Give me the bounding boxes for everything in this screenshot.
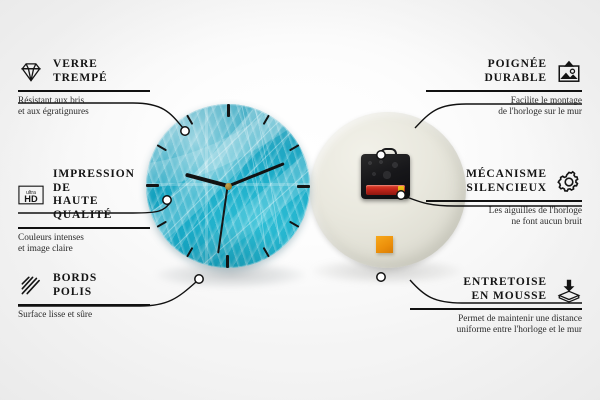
foam-spacer xyxy=(376,236,393,253)
callout-verre-trempe[interactable]: VERRE TREMPÉ Résistant aux bris et aux é… xyxy=(18,58,150,119)
callout-bords-polis[interactable]: BORDS POLIS Surface lisse et sûre xyxy=(18,272,150,321)
picture-hanger-icon xyxy=(556,59,582,85)
callout-rule xyxy=(18,227,150,229)
callout-desc: Surface lisse et sûre xyxy=(18,310,150,322)
callout-title: IMPRESSION DE HAUTE QUALITÉ xyxy=(53,168,150,222)
ultra-hd-badge-icon: ultra HD xyxy=(18,182,44,208)
polished-edges-icon xyxy=(18,273,44,299)
callout-title: BORDS POLIS xyxy=(53,272,97,299)
hands-cap xyxy=(225,183,232,190)
callout-header: ultra HD IMPRESSION DE HAUTE QUALITÉ xyxy=(18,168,150,222)
callout-title: MÉCANISME SILENCIEUX xyxy=(466,168,547,195)
callout-entretoise-en-mousse[interactable]: ENTRETOISE EN MOUSSE Permet de maintenir… xyxy=(410,276,582,337)
callout-header: VERRE TREMPÉ xyxy=(18,58,150,85)
callout-desc: Facilite le montage de l'horloge sur le … xyxy=(426,96,582,119)
mechanism-detail xyxy=(365,159,406,181)
callout-rule xyxy=(426,200,582,202)
callout-header: ENTRETOISE EN MOUSSE xyxy=(410,276,582,303)
quartz-mechanism xyxy=(361,154,410,199)
callout-title: POIGNÉE DURABLE xyxy=(484,58,547,85)
callout-desc: Résistant aux bris et aux égratignures xyxy=(18,96,150,119)
callout-rule xyxy=(18,90,150,92)
callout-desc: Couleurs intenses et image claire xyxy=(18,233,150,256)
diamond-icon xyxy=(18,59,44,85)
callout-header: BORDS POLIS xyxy=(18,272,150,299)
gear-icon xyxy=(556,169,582,195)
callout-desc: Les aiguilles de l'horloge ne font aucun… xyxy=(426,206,582,229)
callout-rule xyxy=(410,308,582,310)
tick-mark xyxy=(156,185,228,228)
callout-title: ENTRETOISE EN MOUSSE xyxy=(463,276,547,303)
tick-mark xyxy=(227,104,229,186)
battery xyxy=(366,185,405,195)
foam-spacer-icon xyxy=(556,277,582,303)
clock-front-view xyxy=(146,104,310,268)
tick-mark xyxy=(146,185,228,187)
tick-mark xyxy=(227,186,229,268)
callout-header: POIGNÉE DURABLE xyxy=(426,58,582,85)
svg-text:HD: HD xyxy=(24,194,38,204)
infographic-canvas: VERRE TREMPÉ Résistant aux bris et aux é… xyxy=(0,0,600,400)
callout-rule xyxy=(426,90,582,92)
callout-impression-haute-qualite[interactable]: ultra HD IMPRESSION DE HAUTE QUALITÉ Cou… xyxy=(18,168,150,256)
callout-poignee-durable[interactable]: POIGNÉE DURABLE Facilite le montage de l… xyxy=(426,58,582,119)
tick-mark xyxy=(228,185,310,187)
callout-header: MÉCANISME SILENCIEUX xyxy=(426,168,582,195)
callout-title: VERRE TREMPÉ xyxy=(53,58,108,85)
callout-desc: Permet de maintenir une distance uniform… xyxy=(410,314,582,337)
callout-mecanisme-silencieux[interactable]: MÉCANISME SILENCIEUX Les aiguilles de l'… xyxy=(426,168,582,229)
callout-rule xyxy=(18,304,150,306)
